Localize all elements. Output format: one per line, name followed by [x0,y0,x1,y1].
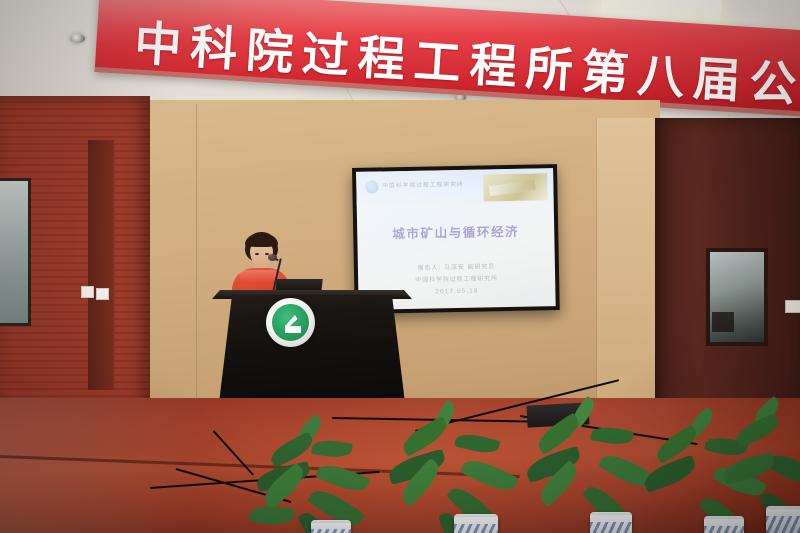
pot-rim [454,514,498,517]
downlight-icon [70,34,85,43]
plant-pot [454,514,498,533]
plant-leaf [267,432,316,468]
potted-plant [720,406,800,533]
wall-outlet[interactable] [785,300,800,313]
podium-emblem [266,298,315,347]
plant-leaf [460,454,519,497]
plant-pot [590,512,632,533]
plant-pot [311,520,351,533]
plant-leaf [590,424,634,447]
podium-emblem-mark-icon [285,315,301,333]
plant-leaf [249,504,295,527]
lecture-hall-photo: 中科院过程工程所第八届公众科学 中国科学院过程工程研究所 城市矿山与循环经济 报… [0,0,800,533]
plant-leaf [652,424,701,464]
pot-rim [311,520,351,523]
microphone-head-icon [268,254,277,261]
slide-subtitle-presenter: 报告人: 马淳安 副研究员 [358,260,555,273]
presentation-slide: 中国科学院过程工程研究所 城市矿山与循环经济 报告人: 马淳安 副研究员 中国科… [356,168,556,310]
podium-emblem-field [272,304,309,341]
potted-plant [380,418,530,533]
speaker-eye [255,253,259,255]
potted-plant [245,428,395,533]
plant-pot [766,506,800,533]
pot-rim [590,512,632,515]
left-window [0,178,31,326]
control-room-equipment [712,312,734,332]
wall-seam [596,118,597,418]
slide-subtitle-institute: 中国科学院过程工程研究所 [358,272,555,285]
slide-header-graphic [483,173,548,201]
plant-leaf [311,438,353,459]
plant-leaf [721,452,777,485]
plant-leaf [454,430,501,456]
wall-switch[interactable] [81,286,94,298]
left-wall-recess [88,140,114,390]
pot-rim [766,506,800,509]
speaker-hair-fringe [245,233,278,247]
speaker-highlight [239,270,279,282]
plant-leaf [641,455,699,493]
wall-seam [196,104,197,424]
wall-switch[interactable] [96,288,109,300]
slide-title: 城市矿山与循环经济 [357,220,554,243]
slide-header-text: 中国科学院过程工程研究所 [382,180,464,190]
plant-leaf [399,416,452,457]
